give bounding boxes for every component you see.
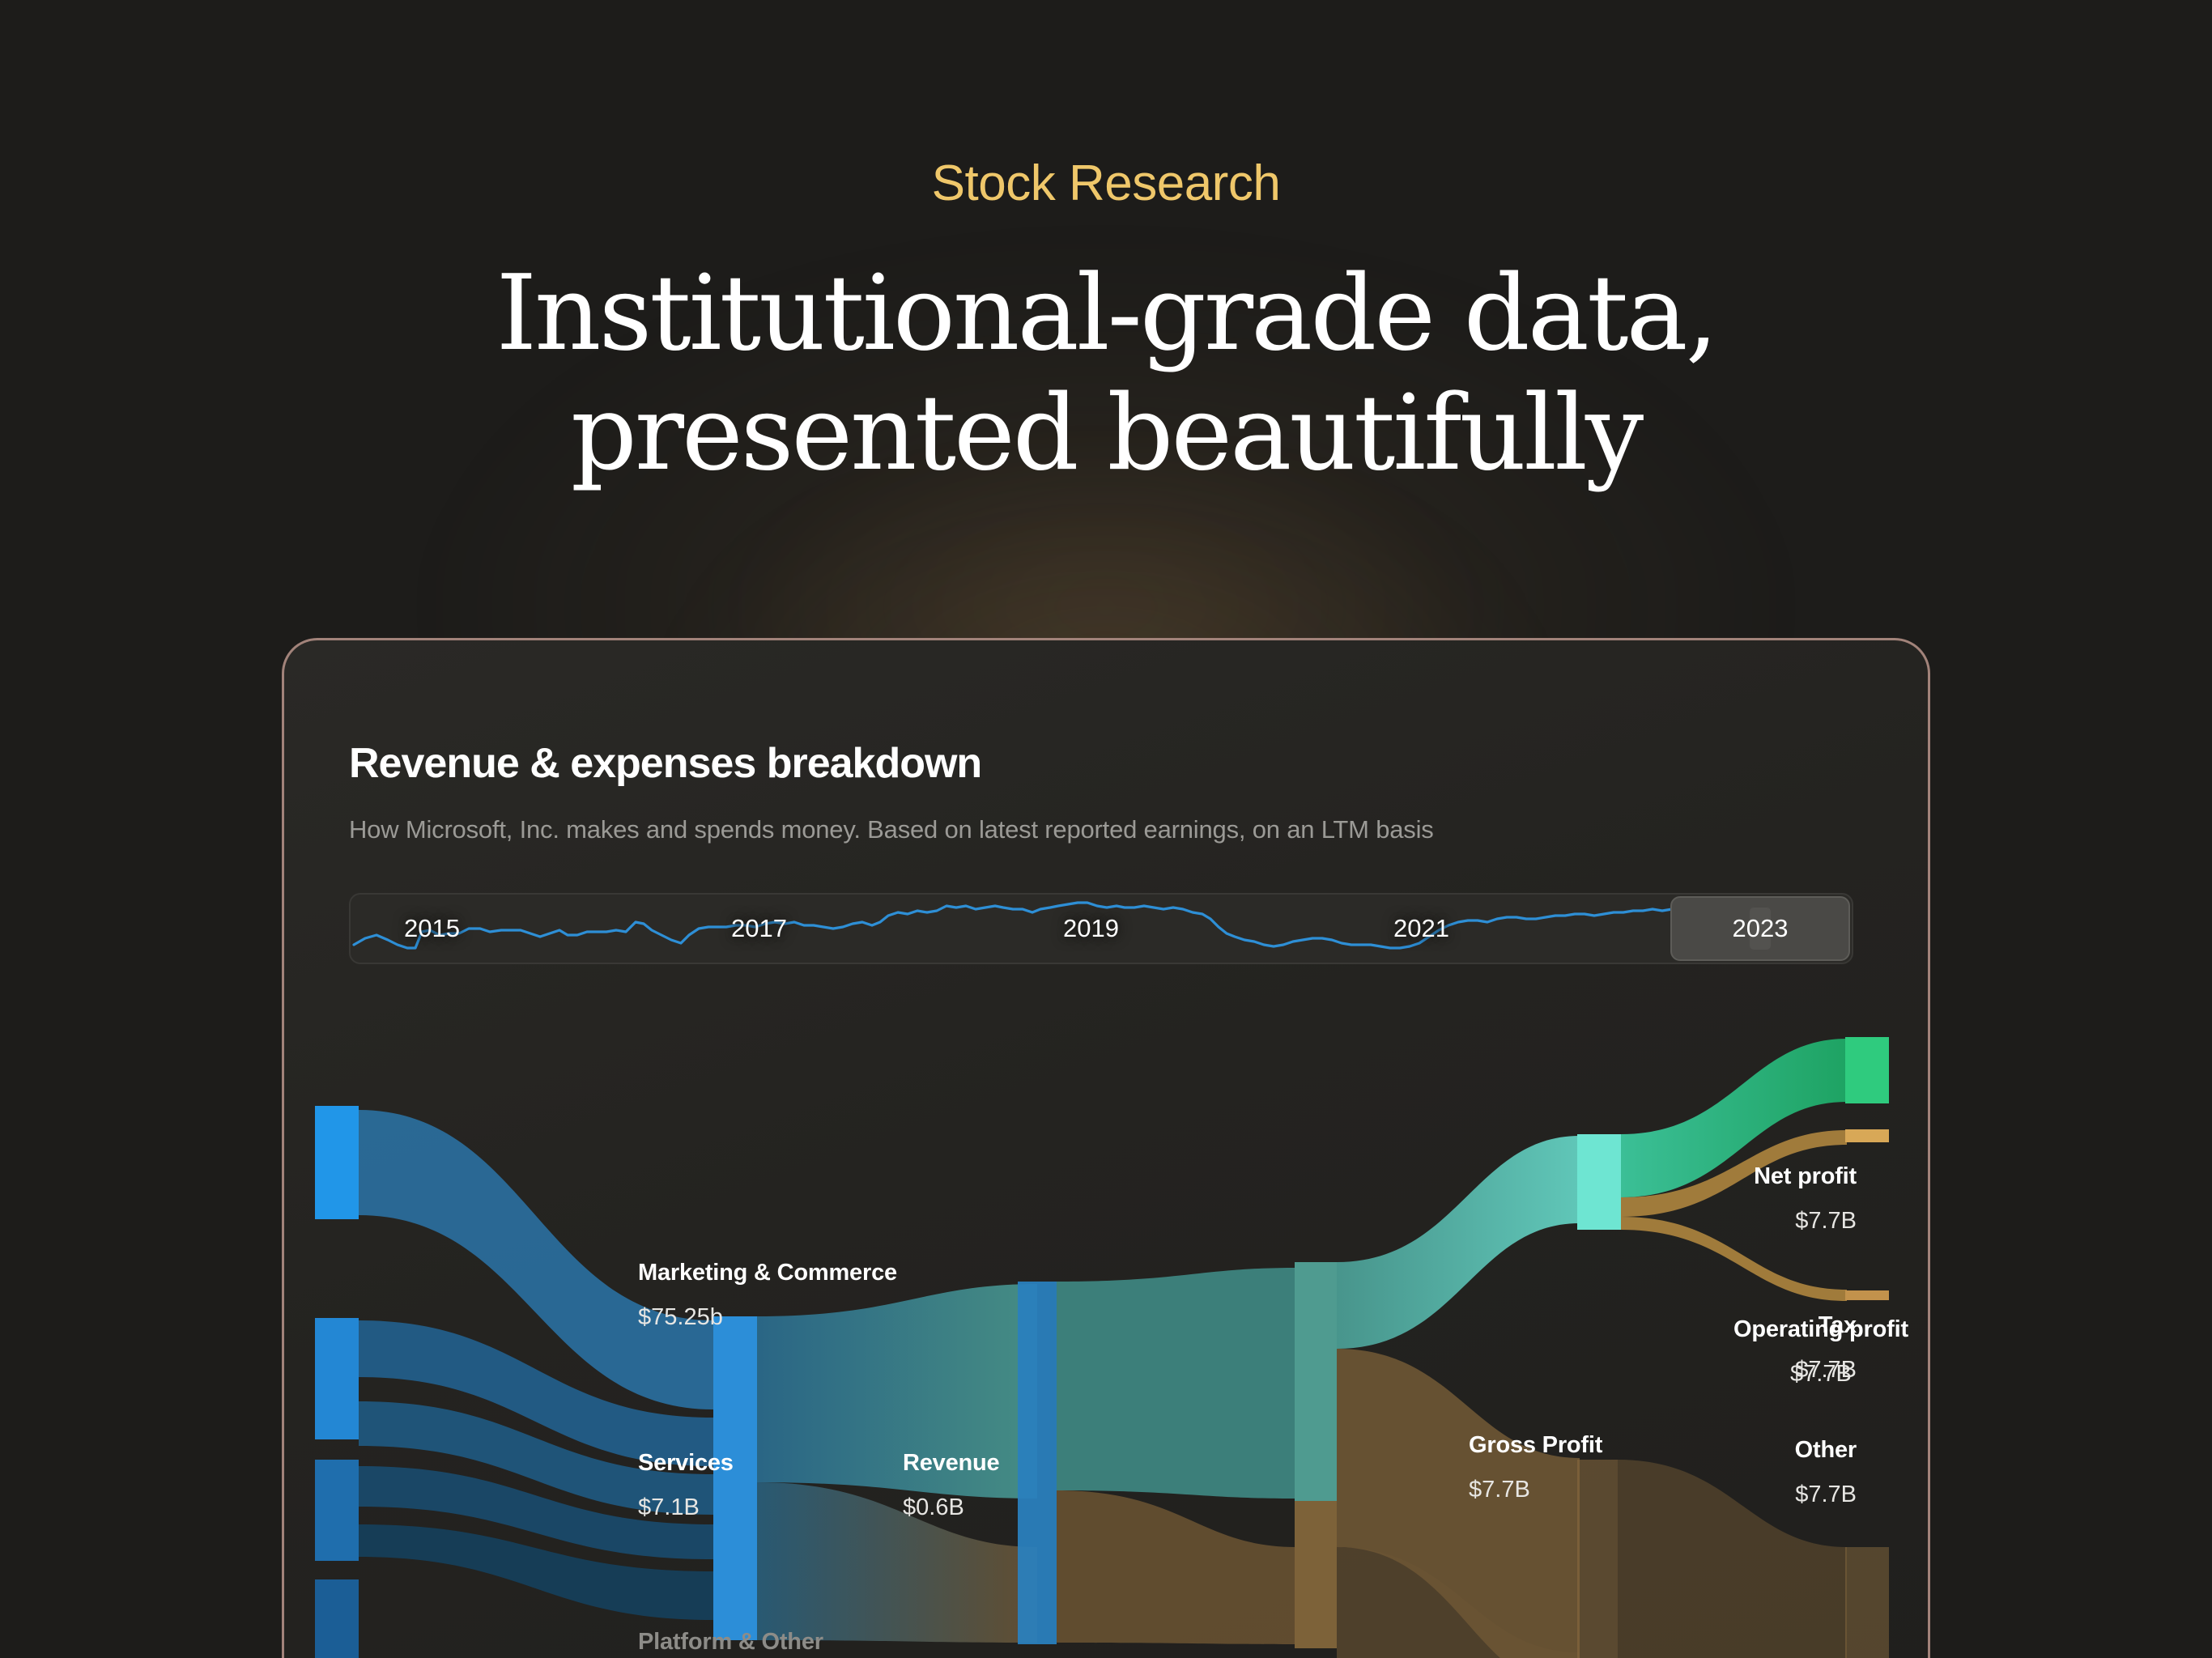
node-sales-marketing[interactable]: [1845, 1547, 1889, 1658]
sankey-diagram[interactable]: [284, 980, 1930, 1658]
node-operating-profit[interactable]: [1577, 1134, 1621, 1230]
link-mid-to-opex: [1057, 1490, 1296, 1644]
node-revenue-secondary[interactable]: [1018, 1282, 1057, 1644]
link-mid-to-gross: [1057, 1268, 1296, 1499]
year-tick-2017[interactable]: 2017: [731, 914, 787, 943]
label-platform-other: Platform & Other $7.1B: [638, 1629, 823, 1658]
node-marketing-commerce[interactable]: [315, 1106, 359, 1219]
label-gross-profit: Gross Profit $7.7B: [1469, 1432, 1602, 1503]
node-gross-profit[interactable]: [1295, 1262, 1337, 1501]
hero-section: Stock Research Institutional-grade data,…: [0, 0, 2212, 495]
node-services[interactable]: [315, 1318, 359, 1439]
headline-line-1: Institutional-grade data,: [496, 253, 1716, 374]
selected-year-label: 2023: [1733, 914, 1789, 943]
label-revenue: Revenue $0.6B: [903, 1450, 1000, 1521]
year-tick-labels: 2015 2017 2019 2021: [351, 895, 1852, 963]
node-platform-other[interactable]: [315, 1460, 359, 1561]
node-net-profit[interactable]: [1845, 1037, 1889, 1103]
chart-card: Revenue & expenses breakdown How Microso…: [282, 638, 1930, 1658]
card-subtitle: How Microsoft, Inc. makes and spends mon…: [349, 815, 1434, 844]
label-other: Other $7.7B: [1795, 1437, 1857, 1508]
headline-line-2: presented beautifully: [571, 373, 1641, 494]
label-marketing-commerce: Marketing & Commerce $75.25b: [638, 1260, 897, 1331]
label-net-profit: Net profit $7.7B: [1754, 1163, 1857, 1235]
eyebrow-label: Stock Research: [0, 159, 2212, 209]
year-timeline-slider[interactable]: 2015 2017 2019 2021 2023: [349, 893, 1853, 964]
year-slider-handle[interactable]: 2023: [1670, 896, 1850, 961]
year-tick-2019[interactable]: 2019: [1063, 914, 1119, 943]
label-tax: Tax $7.7B: [1795, 1312, 1857, 1384]
node-tax[interactable]: [1845, 1129, 1889, 1142]
page-title: Institutional-grade data, presented beau…: [0, 254, 2212, 495]
link-gross-to-operating-profit: [1337, 1136, 1580, 1349]
label-services: Services $7.1B: [638, 1450, 734, 1521]
year-tick-2015[interactable]: 2015: [404, 914, 460, 943]
node-cogs[interactable]: [1295, 1501, 1337, 1648]
card-title: Revenue & expenses breakdown: [349, 739, 981, 788]
year-tick-2021[interactable]: 2021: [1393, 914, 1449, 943]
node-marketing-commerce-2[interactable]: [315, 1579, 359, 1658]
node-other[interactable]: [1845, 1290, 1889, 1300]
